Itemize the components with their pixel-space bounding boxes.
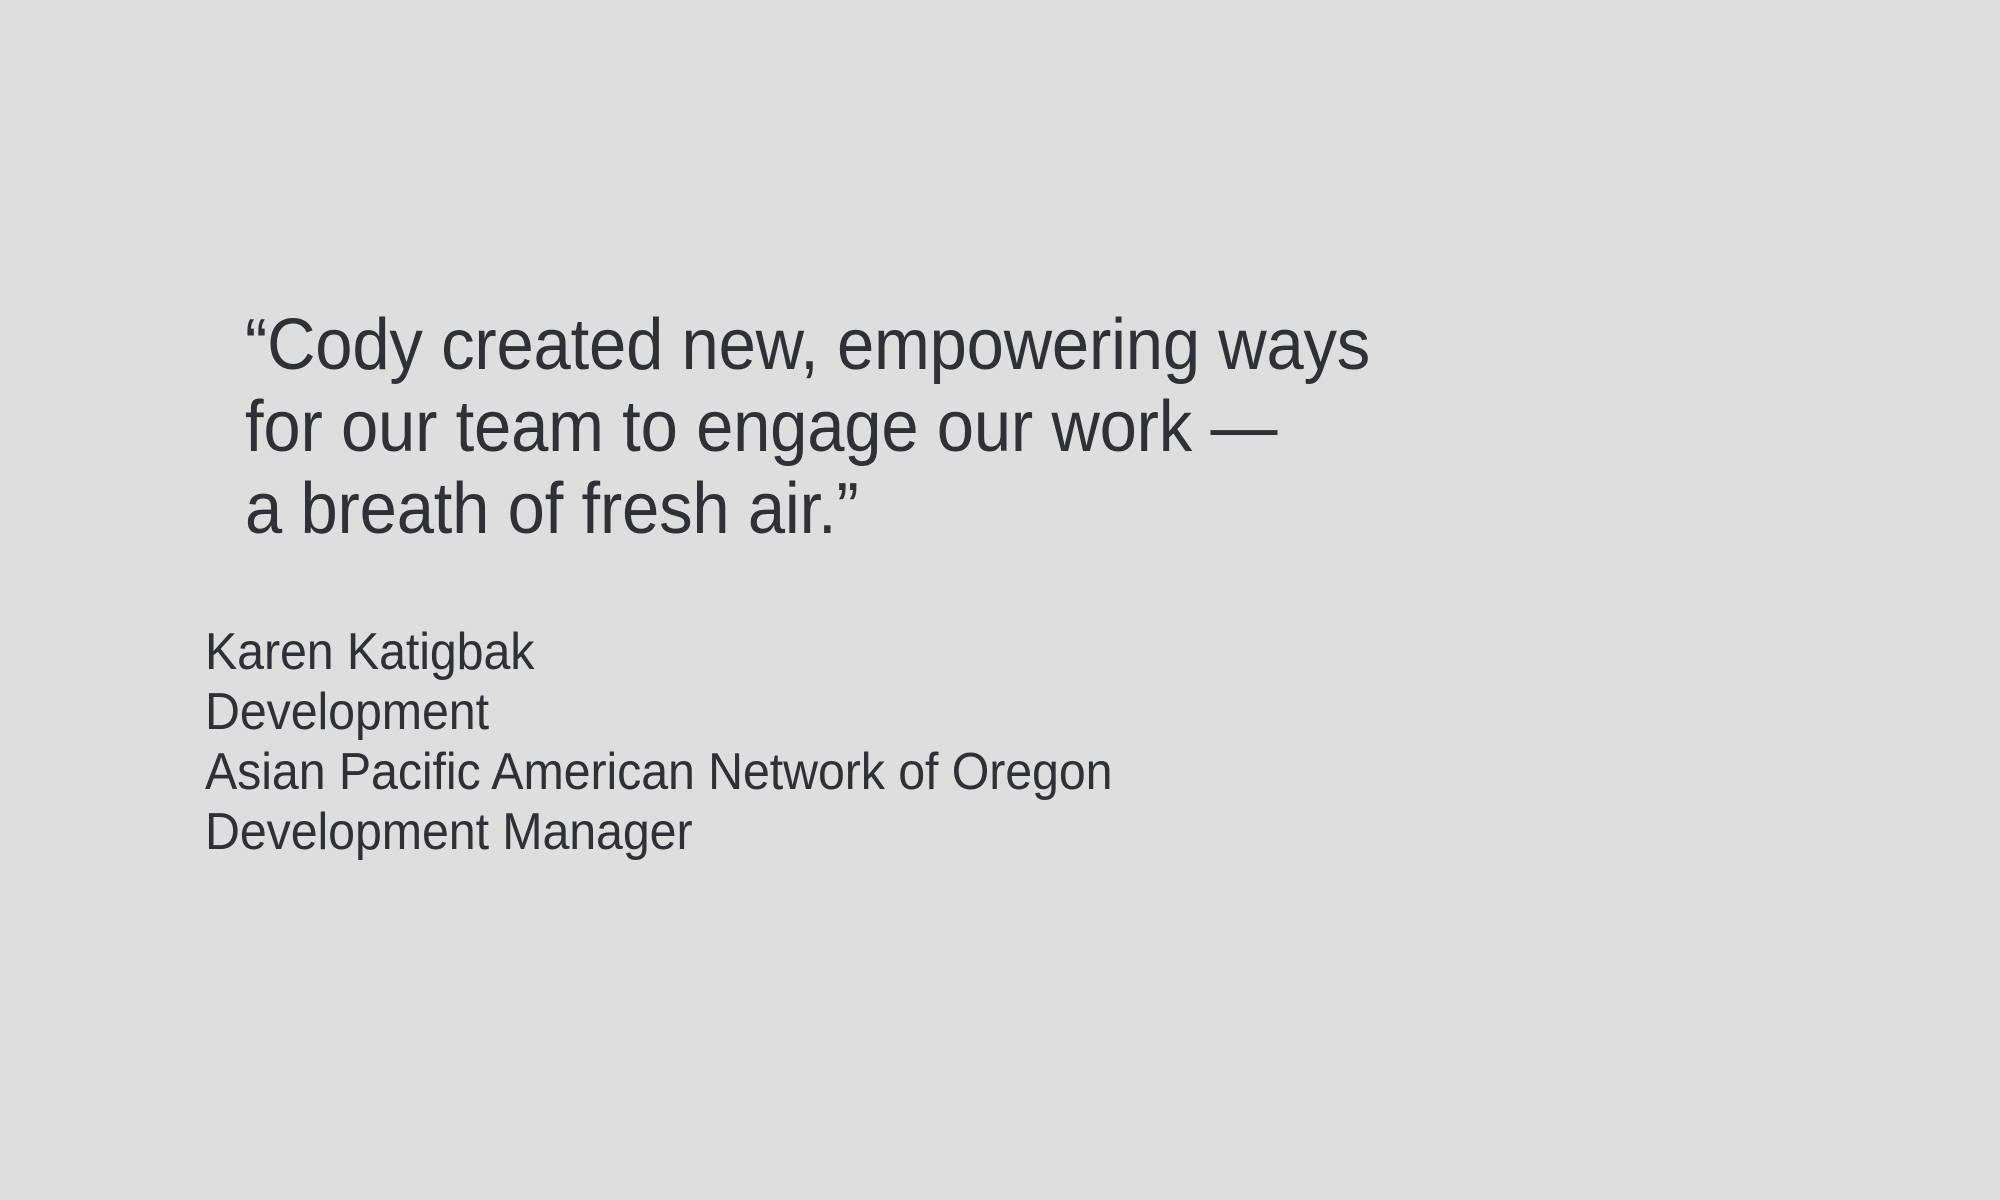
- testimonial-slide: “Cody created new, empowering ways for o…: [0, 0, 2000, 1200]
- quote-line-1: “Cody created new, empowering ways: [245, 304, 1677, 386]
- attribution-block: Karen Katigbak Development Asian Pacific…: [205, 622, 1712, 862]
- testimonial-block: “Cody created new, empowering ways for o…: [205, 232, 1825, 862]
- attribution-organization: Asian Pacific American Network of Oregon: [205, 742, 1712, 802]
- quote-line-3: a breath of fresh air.”: [245, 468, 1677, 550]
- quote-text: “Cody created new, empowering ways for o…: [245, 304, 1677, 550]
- attribution-name: Karen Katigbak: [205, 622, 1712, 682]
- attribution-title: Development Manager: [205, 802, 1712, 862]
- attribution-department: Development: [205, 682, 1712, 742]
- quote-line-2: for our team to engage our work —: [245, 386, 1677, 468]
